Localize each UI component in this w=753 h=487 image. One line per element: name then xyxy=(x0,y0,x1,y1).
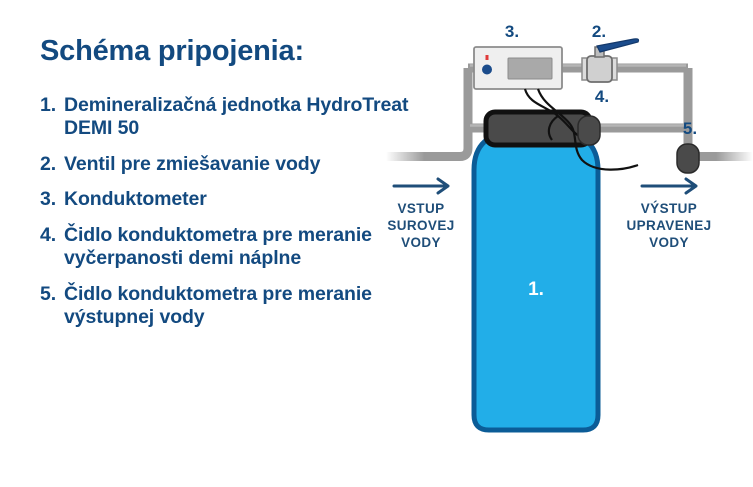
list-item-label: Demineralizačná jednotka HydroTreat DEMI… xyxy=(64,94,410,140)
list-item: 2. Ventil pre zmiešavanie vody xyxy=(40,153,410,176)
outlet-label-line-1: VÝSTUP xyxy=(641,201,697,216)
list-item: 3. Konduktometer xyxy=(40,188,410,211)
legend-list: 1. Demineralizačná jednotka HydroTreat D… xyxy=(40,94,410,329)
list-item-number: 2. xyxy=(40,153,64,176)
tank-callout-label: 1. xyxy=(528,279,544,300)
sensor-4-body xyxy=(578,116,600,145)
callout-label-valve: 2. xyxy=(592,22,606,41)
conductometer-led-icon xyxy=(486,55,489,60)
demi-tank: 1. xyxy=(474,132,598,430)
callout-label-sensor-5: 5. xyxy=(683,119,697,138)
list-item-label: Ventil pre zmiešavanie vody xyxy=(64,153,410,176)
left-riser-pipe xyxy=(448,68,468,157)
list-item-label: Čidlo konduktometra pre meranie výstupne… xyxy=(64,283,410,329)
list-item: 1. Demineralizačná jednotka HydroTreat D… xyxy=(40,94,410,140)
page-title: Schéma pripojenia: xyxy=(40,36,410,68)
list-item-number: 5. xyxy=(40,283,64,306)
outlet-label-line-3: VODY xyxy=(649,235,689,250)
inlet-label-line-3: VODY xyxy=(401,235,441,250)
list-item-number: 3. xyxy=(40,188,64,211)
conductometer-button[interactable] xyxy=(482,65,492,75)
callout-label-meter: 3. xyxy=(505,22,519,41)
list-item-number: 1. xyxy=(40,94,64,117)
list-item: 4. Čidlo konduktometra pre meranie vyčer… xyxy=(40,224,410,270)
valve-body xyxy=(587,56,612,82)
outlet-label-line-2: UPRAVENEJ xyxy=(626,218,711,233)
list-item: 5. Čidlo konduktometra pre meranie výstu… xyxy=(40,283,410,329)
connection-diagram: 1. 3. xyxy=(386,20,753,487)
inlet-label-line-1: VSTUP xyxy=(397,201,444,216)
mixing-ball-valve: 2. xyxy=(582,22,639,82)
inlet-flow-indicator: VSTUP SUROVEJ VODY xyxy=(387,179,454,250)
right-riser-pipe xyxy=(680,68,692,157)
list-item-label: Čidlo konduktometra pre meranie vyčerpan… xyxy=(64,224,410,270)
legend-panel: Schéma pripojenia: 1. Demineralizačná je… xyxy=(40,36,410,341)
list-item-label: Konduktometer xyxy=(64,188,410,211)
inlet-arrow-icon xyxy=(394,179,448,193)
callout-label-sensor-4: 4. xyxy=(595,87,609,106)
inlet-pipe-stub xyxy=(386,152,456,161)
inlet-label-line-2: SUROVEJ xyxy=(387,218,454,233)
infographic-root: Schéma pripojenia: 1. Demineralizačná je… xyxy=(0,0,753,487)
list-item-number: 4. xyxy=(40,224,64,247)
outlet-flow-indicator: VÝSTUP UPRAVENEJ VODY xyxy=(626,179,711,250)
conductometer-display xyxy=(508,58,552,79)
conductometer-unit: 3. xyxy=(474,22,562,89)
sensor-5-body xyxy=(677,144,699,173)
outlet-arrow-icon xyxy=(642,179,696,193)
